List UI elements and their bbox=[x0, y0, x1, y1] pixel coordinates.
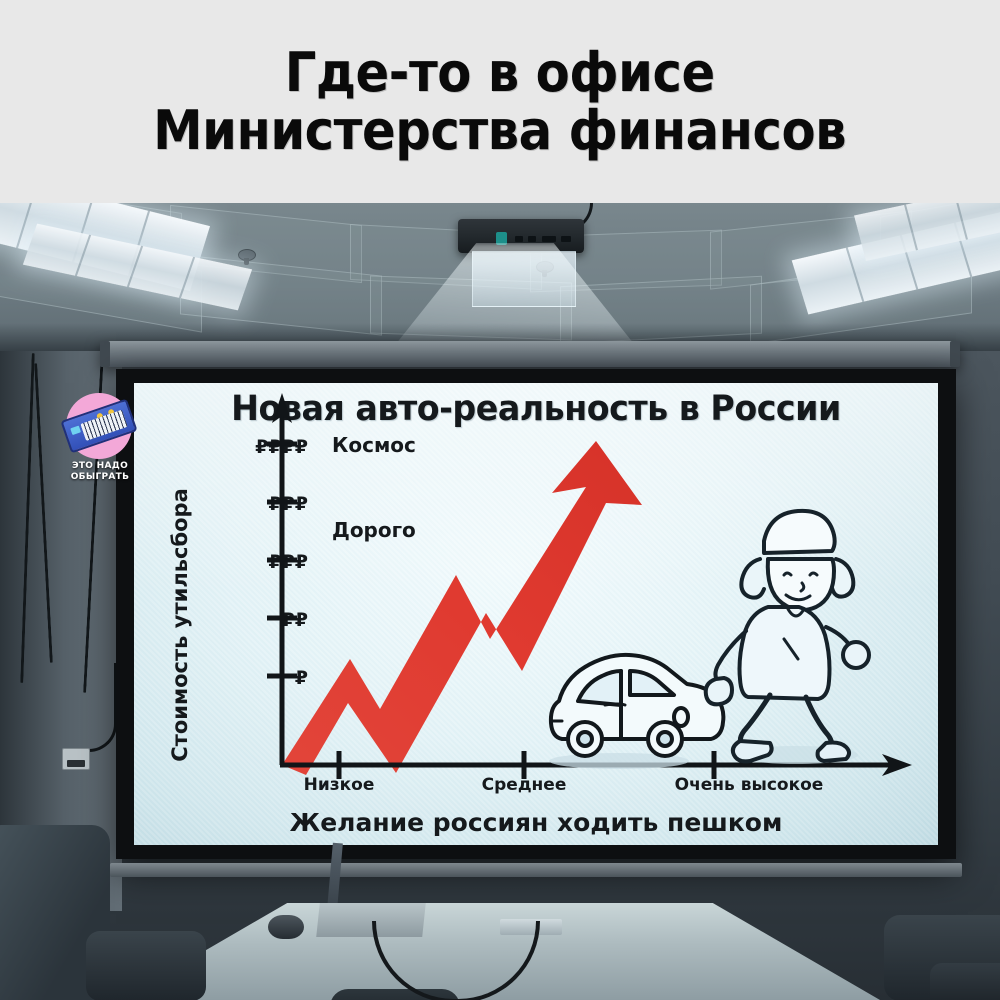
watermark-line-2: ОБЫГРАТЬ bbox=[62, 472, 138, 483]
slide: Новая авто-реальность в России Стоимость… bbox=[134, 383, 938, 845]
projector-port bbox=[561, 236, 571, 242]
office-photo: Новая авто-реальность в России Стоимость… bbox=[0, 203, 1000, 1000]
piano-keys bbox=[80, 410, 127, 441]
office-chair bbox=[930, 963, 1000, 1000]
projector-port bbox=[515, 236, 523, 242]
watermark-text: ЭТО НАДО ОБЫГРАТЬ bbox=[62, 461, 138, 483]
lcd-screen-icon bbox=[70, 426, 81, 436]
small-car-illustration bbox=[549, 655, 723, 769]
screen-roller-housing bbox=[100, 341, 960, 367]
sprinkler-head bbox=[238, 249, 256, 261]
caption-band: Где-то в офисе Министерства финансов bbox=[0, 0, 1000, 203]
meme-image: Где-то в офисе Министерства финансов bbox=[0, 0, 1000, 1000]
computer-mouse bbox=[268, 915, 304, 939]
watermark-line-1: ЭТО НАДО bbox=[62, 461, 138, 472]
roller-cap bbox=[100, 341, 110, 367]
y-axis bbox=[267, 393, 297, 765]
chart-plot bbox=[134, 383, 938, 845]
projector-port bbox=[528, 236, 536, 242]
screen-bottom-bar bbox=[110, 863, 962, 877]
walking-man-illustration bbox=[706, 511, 869, 764]
projection-screen: Новая авто-реальность в России Стоимость… bbox=[134, 383, 938, 845]
caption-line-1: Где-то в офисе bbox=[285, 44, 715, 102]
watermark-logo: ЭТО НАДО ОБЫГРАТЬ bbox=[62, 393, 138, 493]
wall-cable bbox=[78, 663, 117, 752]
office-chair bbox=[86, 931, 206, 1000]
roller-cap bbox=[950, 341, 960, 367]
caption-line-2: Министерства финансов bbox=[153, 102, 846, 160]
projection-screen-frame: Новая авто-реальность в России Стоимость… bbox=[116, 369, 956, 859]
projector-port bbox=[542, 236, 556, 242]
power-outlet bbox=[62, 748, 90, 770]
